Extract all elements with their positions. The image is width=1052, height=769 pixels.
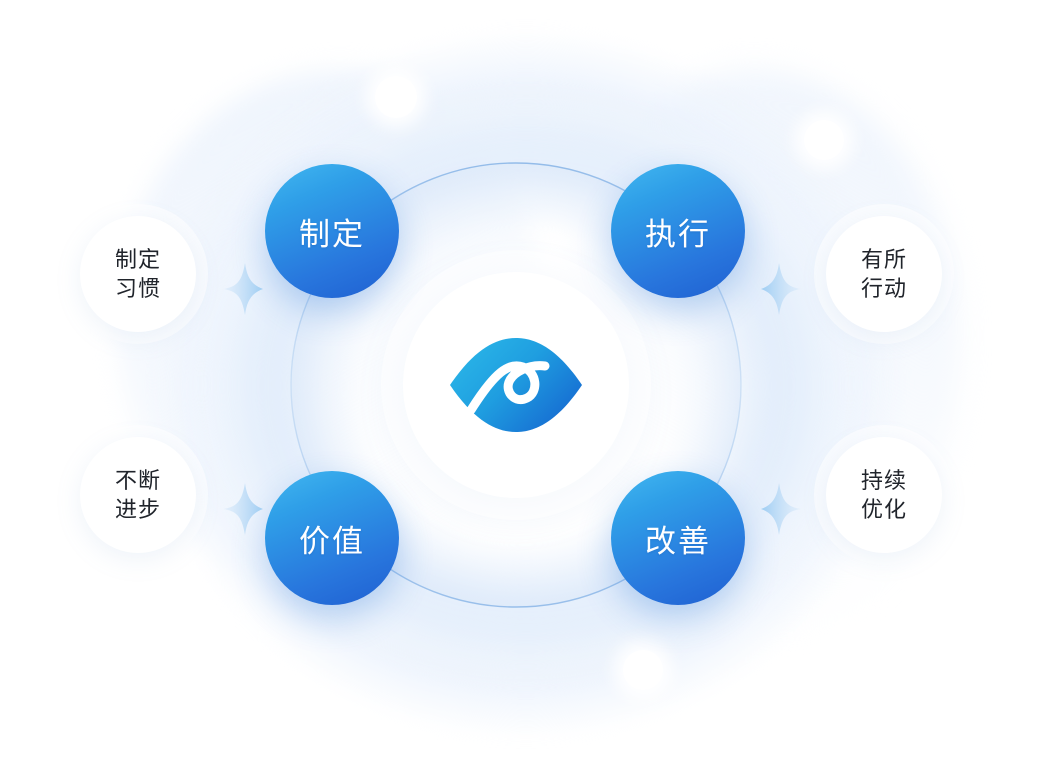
decor-dot-3 [197, 640, 237, 680]
node-label: 价值 [299, 516, 365, 561]
bubble-line-2: 行动 [861, 274, 907, 303]
arrow-left-icon [759, 482, 803, 536]
bubble-line-1: 有所 [861, 245, 907, 274]
arrow-right-icon [221, 482, 265, 536]
node-label: 改善 [645, 516, 711, 561]
bubble-zhiding-xiguan[interactable]: 制定 习惯 [80, 216, 196, 332]
decor-dot-2 [804, 120, 844, 160]
node-zhixing[interactable]: 执行 [611, 164, 745, 298]
arrow-right-icon [221, 262, 265, 316]
decor-dot-4 [623, 650, 663, 690]
node-jiazhi[interactable]: 价值 [265, 471, 399, 605]
bubble-line-1: 制定 [115, 245, 161, 274]
node-gaishan[interactable]: 改善 [611, 471, 745, 605]
eye-swirl-logo-icon [447, 336, 585, 434]
arrow-left-icon [759, 262, 803, 316]
node-label: 制定 [299, 209, 365, 254]
bubble-line-1: 持续 [861, 466, 907, 495]
bubble-line-2: 习惯 [115, 274, 161, 303]
bubble-yousuo-xingdong[interactable]: 有所 行动 [826, 216, 942, 332]
diagram-canvas: 制定 执行 价值 改善 制定 习惯 不断 进步 有所 行动 持续 优化 [0, 0, 1052, 769]
decor-dot-1 [375, 76, 417, 118]
bubble-buduan-jinbu[interactable]: 不断 进步 [80, 437, 196, 553]
bubble-line-2: 进步 [115, 495, 161, 524]
node-zhiding[interactable]: 制定 [265, 164, 399, 298]
bubble-chixu-youhua[interactable]: 持续 优化 [826, 437, 942, 553]
bubble-line-2: 优化 [861, 495, 907, 524]
node-label: 执行 [645, 209, 711, 254]
bubble-line-1: 不断 [115, 466, 161, 495]
